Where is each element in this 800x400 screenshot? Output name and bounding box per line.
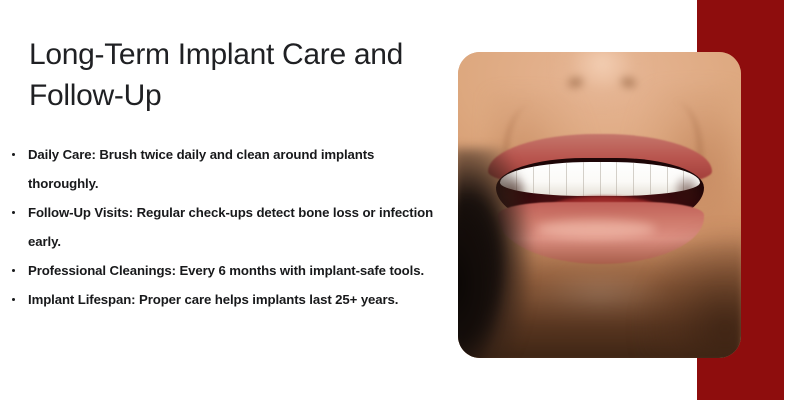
bullet-dot-icon <box>12 298 15 301</box>
bullet-dot-icon <box>12 211 15 214</box>
list-item-text: Daily Care: Brush twice daily and clean … <box>28 147 374 191</box>
list-item-text: Professional Cleanings: Every 6 months w… <box>28 263 424 278</box>
list-item: Implant Lifespan: Proper care helps impl… <box>0 285 440 314</box>
mouth-corner-right <box>674 176 700 206</box>
page-title: Long-Term Implant Care and Follow-Up <box>29 34 429 117</box>
text-column: Long-Term Implant Care and Follow-Up Dai… <box>0 0 452 400</box>
list-item: Daily Care: Brush twice daily and clean … <box>0 140 440 198</box>
list-item: Follow-Up Visits: Regular check-ups dete… <box>0 198 440 256</box>
list-item: Professional Cleanings: Every 6 months w… <box>0 256 440 285</box>
nose <box>554 52 650 114</box>
list-item-text: Implant Lifespan: Proper care helps impl… <box>28 292 398 307</box>
bullet-dot-icon <box>12 153 15 156</box>
hair-left-inner <box>458 202 518 358</box>
nostril-right <box>620 77 637 89</box>
list-item-text: Follow-Up Visits: Regular check-ups dete… <box>28 205 433 249</box>
bullet-dot-icon <box>12 269 15 272</box>
slide-canvas: Long-Term Implant Care and Follow-Up Dai… <box>0 0 800 400</box>
nostril-left <box>567 77 584 89</box>
neck-shadow-right <box>621 208 741 358</box>
bullet-list: Daily Care: Brush twice daily and clean … <box>0 140 440 314</box>
smile-photo <box>458 52 741 358</box>
photo-skin-base <box>458 52 741 358</box>
